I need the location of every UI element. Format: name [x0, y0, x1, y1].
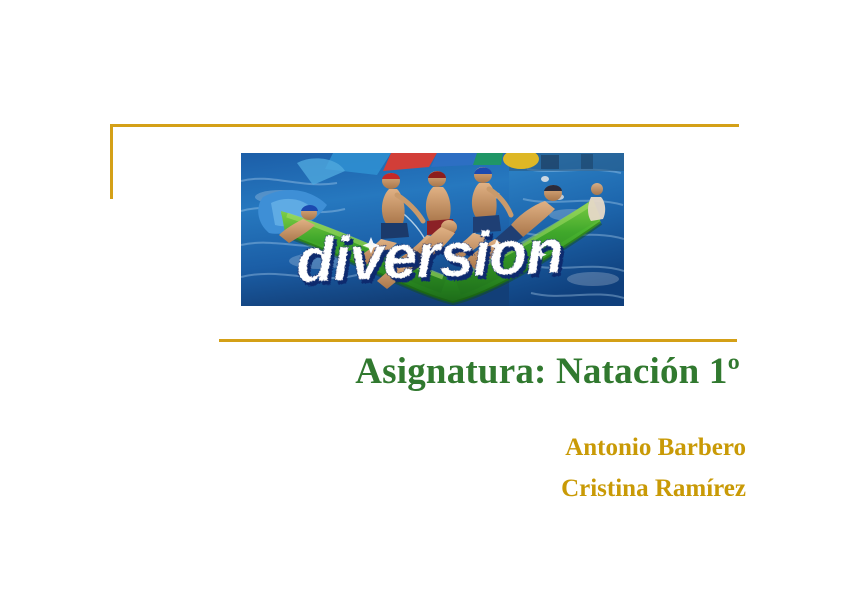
author-name: Cristina Ramírez [300, 469, 746, 510]
author-name: Antonio Barbero [300, 428, 746, 469]
title-divider-rule [219, 339, 737, 342]
frame-horizontal-rule [110, 124, 739, 127]
frame-vertical-rule [110, 124, 113, 199]
diversion-photo-graphic: diversion diversion [241, 153, 624, 306]
author-list: Antonio Barbero Cristina Ramírez [300, 428, 746, 509]
diversion-photo: diversion diversion [241, 153, 624, 306]
title-slide: diversion diversion Asignatura: Natación… [0, 0, 848, 599]
page-title: Asignatura: Natación 1º [100, 351, 740, 392]
svg-text:diversion: diversion [295, 217, 564, 295]
